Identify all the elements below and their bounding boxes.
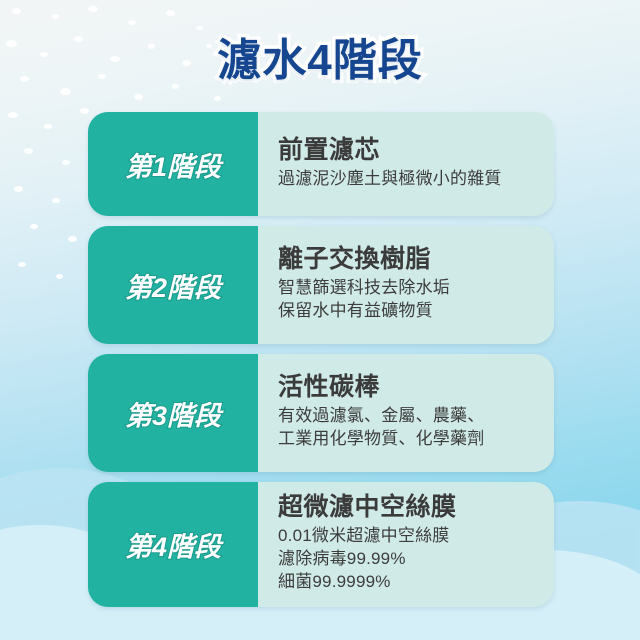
stage-desc-4-line-2: 濾除病毒99.99% [278, 547, 540, 570]
bubble-dot [12, 8, 21, 14]
bubble-dot [214, 96, 221, 101]
stage-title-4: 超微濾中空絲膜 [278, 493, 540, 522]
bubble-dot [52, 14, 59, 19]
stage-title-3: 活性碳棒 [278, 373, 540, 402]
stage-badge-2: 第2階段 [88, 226, 258, 344]
stage-card-4[interactable]: 第4階段 超微濾中空絲膜 0.01微米超濾中空絲膜 濾除病毒99.99% 細菌9… [88, 482, 554, 607]
stage-body-3: 活性碳棒 有效過濾氯、金屬、農藥、 工業用化學物質、化學藥劑 [258, 354, 554, 472]
bubble-dot [18, 262, 26, 267]
bubble-dot [88, 6, 98, 12]
stage-badge-label-2: 第2階段 [125, 266, 221, 305]
stage-body-4: 超微濾中空絲膜 0.01微米超濾中空絲膜 濾除病毒99.99% 細菌99.999… [258, 482, 554, 607]
stage-badge-label-3: 第3階段 [125, 394, 221, 433]
stage-badge-1: 第1階段 [88, 112, 258, 216]
stage-card-2[interactable]: 第2階段 離子交換樹脂 智慧篩選科技去除水垢 保留水中有益礦物質 [88, 226, 554, 344]
stage-body-1: 前置濾芯 過濾泥沙塵土與極微小的雜質 [258, 112, 554, 216]
stage-desc-3-line-1: 有效過濾氯、金屬、農藥、 [278, 404, 540, 427]
stage-title-1: 前置濾芯 [278, 136, 540, 165]
bubble-dot [52, 198, 60, 203]
stage-desc-4-line-3: 細菌99.9999% [278, 570, 540, 593]
bubble-dot [14, 186, 23, 192]
stage-body-2: 離子交換樹脂 智慧篩選科技去除水垢 保留水中有益礦物質 [258, 226, 554, 344]
stage-desc-4-line-1: 0.01微米超濾中空絲膜 [278, 524, 540, 547]
stage-badge-4: 第4階段 [88, 482, 258, 607]
stage-list: 第1階段 前置濾芯 過濾泥沙塵土與極微小的雜質 第2階段 離子交換樹脂 智慧篩選… [88, 112, 554, 617]
stage-card-3[interactable]: 第3階段 活性碳棒 有效過濾氯、金屬、農藥、 工業用化學物質、化學藥劑 [88, 354, 554, 472]
bubble-dot [68, 236, 77, 242]
stage-desc-3-line-2: 工業用化學物質、化學藥劑 [278, 427, 540, 450]
bubble-dot [166, 10, 175, 16]
page-title-container: 濾水4階段 [0, 24, 640, 88]
stage-badge-label-4: 第4階段 [125, 525, 221, 564]
page-title: 濾水4階段 [217, 24, 422, 88]
stage-badge-3: 第3階段 [88, 354, 258, 472]
bubble-dot [8, 112, 18, 118]
bubble-dot [44, 124, 52, 129]
bubble-dot [60, 88, 71, 95]
stage-desc-2-line-2: 保留水中有益礦物質 [278, 299, 540, 322]
stage-desc-2-line-1: 智慧篩選科技去除水垢 [278, 276, 540, 299]
stage-desc-1-line-1: 過濾泥沙塵土與極微小的雜質 [278, 167, 540, 190]
stage-badge-label-1: 第1階段 [125, 145, 221, 184]
infographic-canvas: 濾水4階段 第1階段 前置濾芯 過濾泥沙塵土與極微小的雜質 第2階段 離子交換樹… [0, 0, 640, 640]
bubble-dot [30, 224, 38, 229]
stage-title-2: 離子交換樹脂 [278, 245, 540, 274]
bubble-dot [62, 160, 70, 165]
bubble-dot [134, 94, 143, 100]
bubble-dot [56, 274, 63, 279]
bubble-dot [24, 148, 33, 154]
stage-card-1[interactable]: 第1階段 前置濾芯 過濾泥沙塵土與極微小的雜質 [88, 112, 554, 216]
